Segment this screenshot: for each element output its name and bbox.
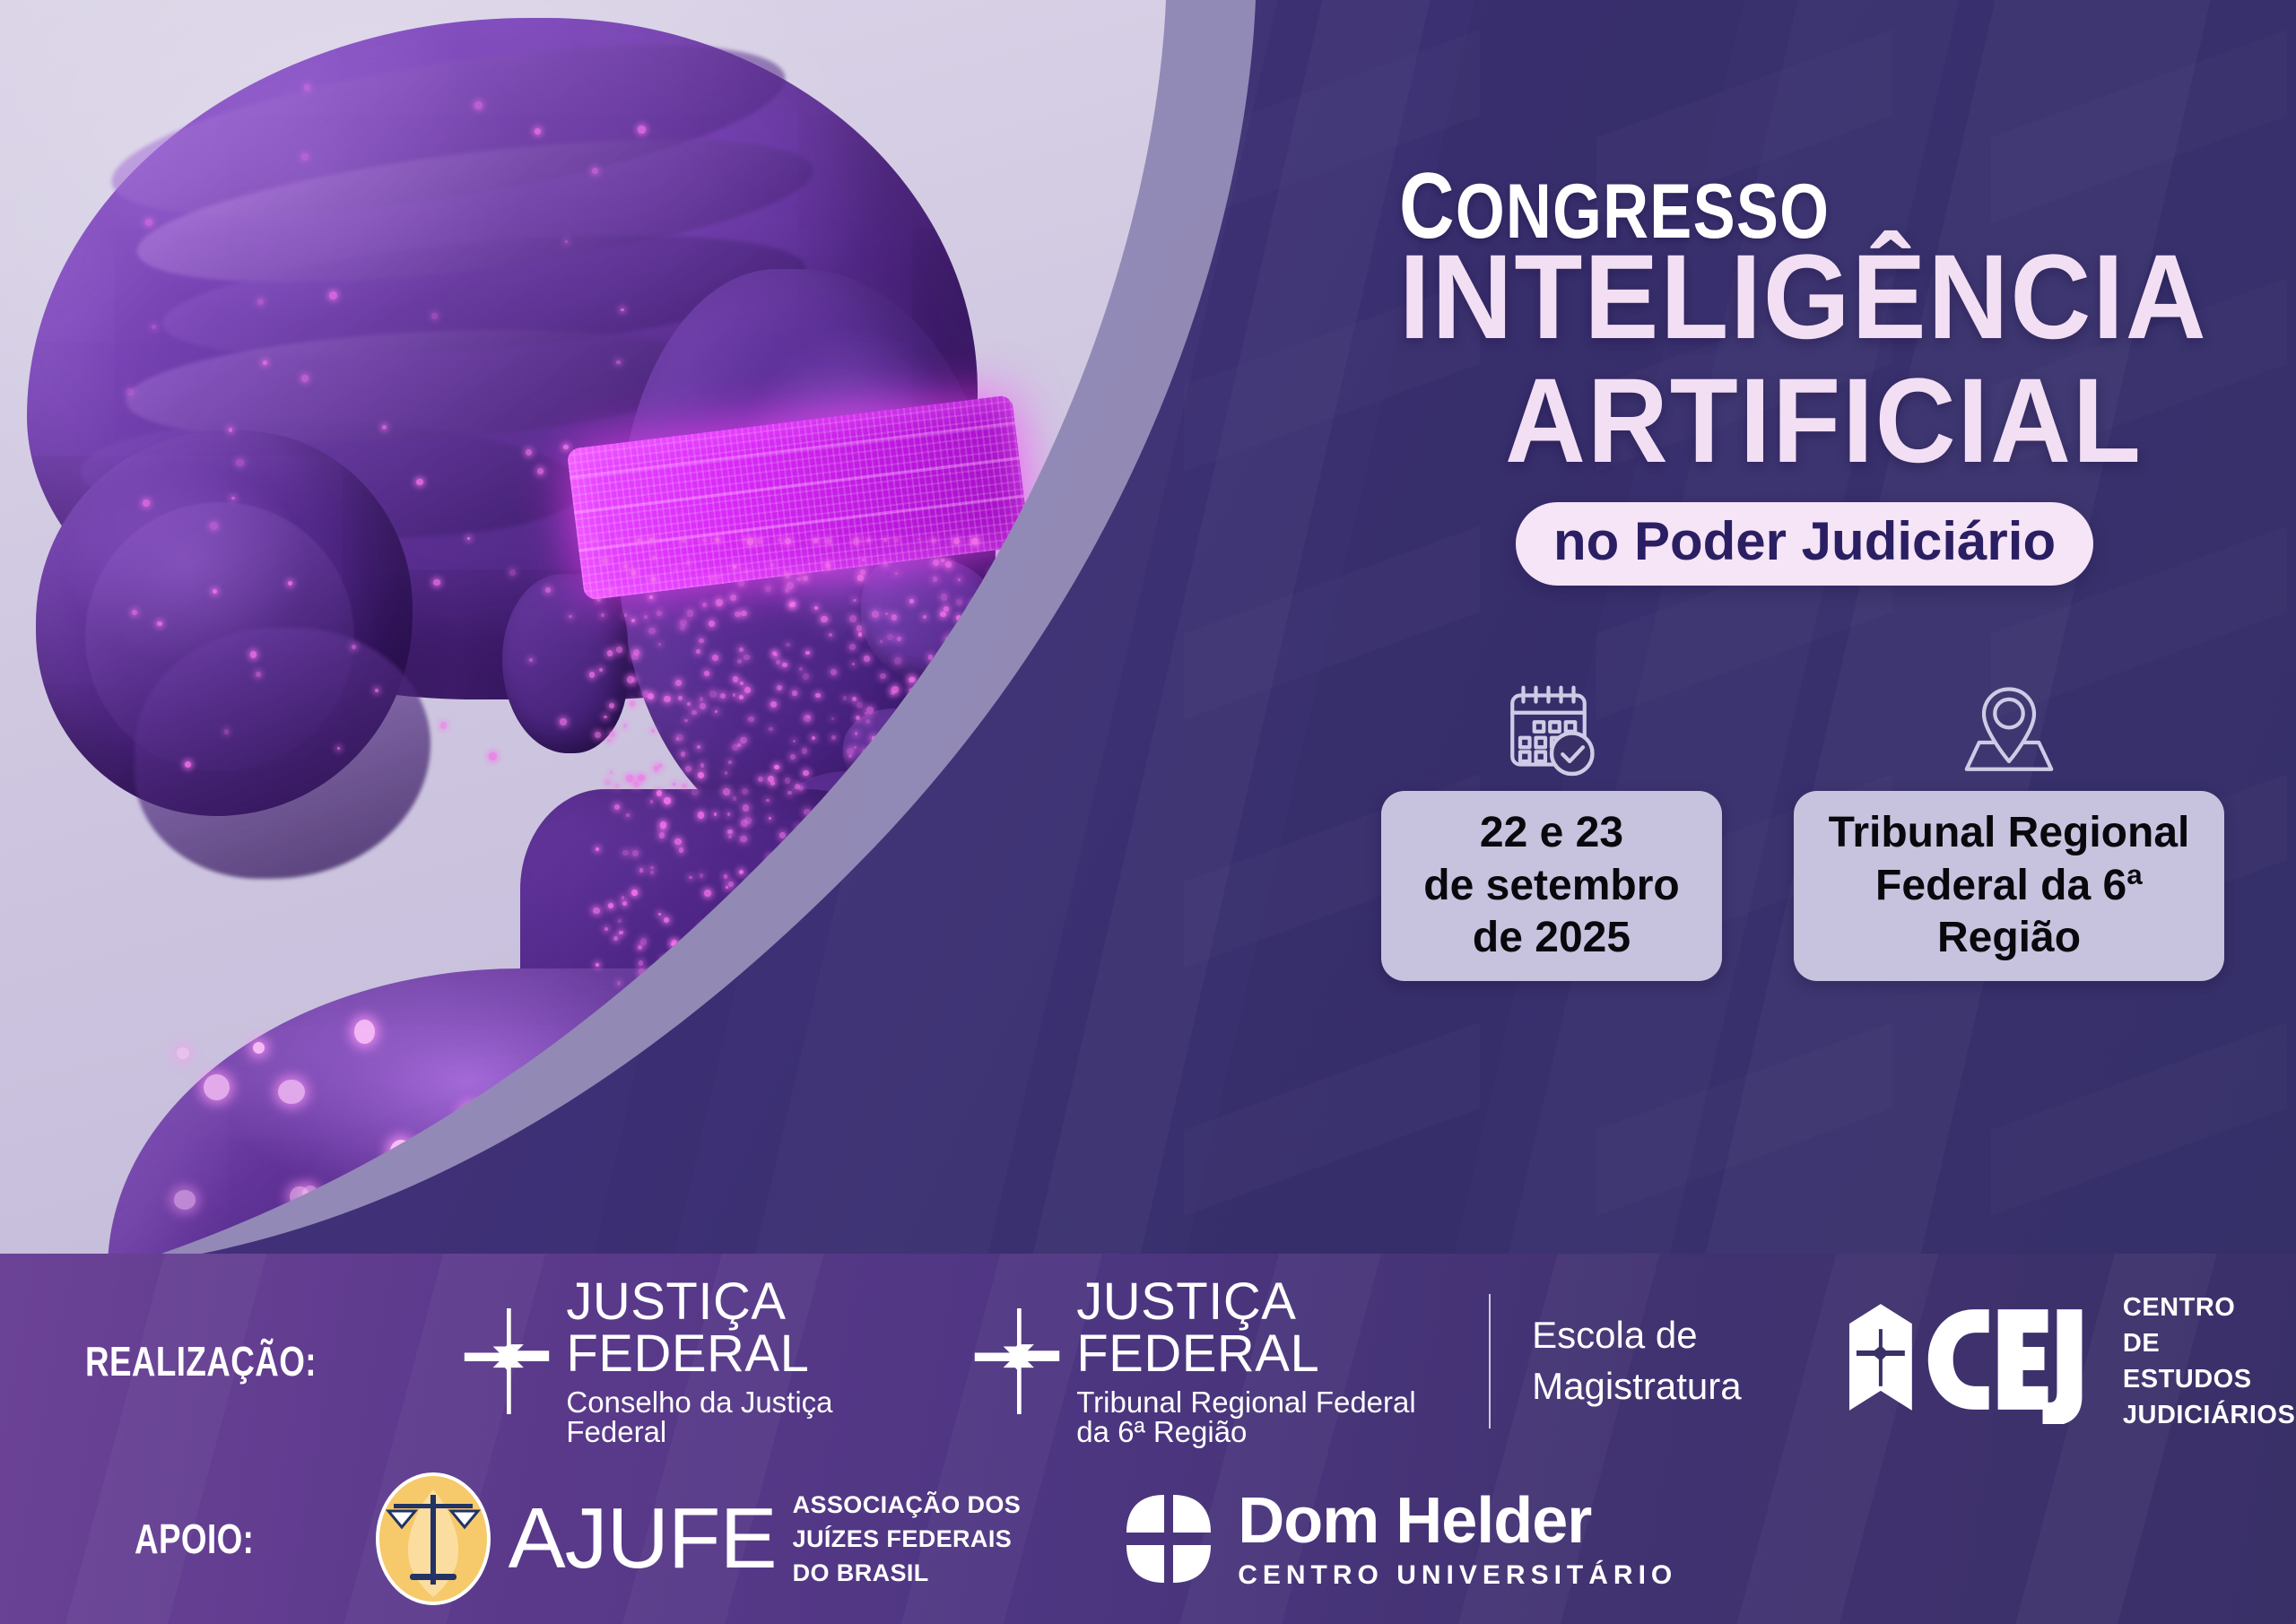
logo-dom-helder[interactable]: Dom Helder CENTRO UNIVERSITÁRIO bbox=[1119, 1489, 1677, 1589]
event-place-block: Tribunal Regional Federal da 6ª Região bbox=[1794, 682, 2224, 981]
justica-federal-cross-icon bbox=[464, 1308, 550, 1414]
logo-cej-sub: CENTRO DE ESTUDOS JUDICIÁRIOS bbox=[2123, 1290, 2296, 1433]
logo-escola-magistratura[interactable]: Escola de Magistratura bbox=[1532, 1310, 1741, 1411]
logo-cjf[interactable]: JUSTIÇA FEDERAL Conselho da Justiça Fede… bbox=[464, 1276, 904, 1446]
logo-trf6-sub: Tribunal Regional Federal da 6ª Região bbox=[1076, 1387, 1448, 1446]
logo-ajufe[interactable]: AJUFE ASSOCIAÇÃO DOS JUÍZES FEDERAIS DO … bbox=[370, 1472, 1022, 1606]
cej-logo-icon bbox=[1840, 1298, 2109, 1424]
logo-ajufe-sub: ASSOCIAÇÃO DOS JUÍZES FEDERAIS DO BRASIL bbox=[793, 1488, 1022, 1591]
event-info-row: 22 e 23 de setembro de 2025 Tribunal Reg… bbox=[1354, 682, 2251, 968]
logo-cjf-main: JUSTIÇA FEDERAL bbox=[566, 1276, 904, 1380]
realizacao-label: REALIZAÇÃO: bbox=[85, 1337, 317, 1385]
event-title-line2: ARTIFICIAL bbox=[1505, 366, 2143, 476]
logo-trf6-main: JUSTIÇA FEDERAL bbox=[1076, 1276, 1448, 1380]
calendar-check-icon bbox=[1381, 682, 1722, 780]
content-column: CONGRESSO INTELIGÊNCIA ARTIFICIAL no Pod… bbox=[1300, 0, 2296, 1254]
dom-helder-petals-icon bbox=[1119, 1489, 1218, 1588]
sponsors-footer: REALIZAÇÃO: JUSTIÇA FEDERAL Conselho da … bbox=[0, 1254, 2296, 1624]
poster-root: CONGRESSO INTELIGÊNCIA ARTIFICIAL no Pod… bbox=[0, 0, 2296, 1624]
ajufe-scales-icon bbox=[370, 1472, 496, 1606]
event-place-text: Tribunal Regional Federal da 6ª Região bbox=[1794, 791, 2224, 981]
logo-cjf-sub: Conselho da Justiça Federal bbox=[566, 1387, 904, 1446]
apoio-row: APOIO: AJUFE ASSOCIAÇÃO DOS JUÍZES FEDER… bbox=[0, 1458, 2296, 1620]
logo-ajufe-acronym: AJUFE bbox=[509, 1496, 777, 1582]
map-pin-icon bbox=[1794, 682, 2224, 780]
footer-divider bbox=[1489, 1294, 1491, 1429]
event-subtitle-pill: no Poder Judiciário bbox=[1516, 502, 2093, 586]
logo-trf6[interactable]: JUSTIÇA FEDERAL Tribunal Regional Federa… bbox=[974, 1276, 1448, 1446]
apoio-label: APOIO: bbox=[135, 1515, 254, 1563]
logo-cej[interactable]: CENTRO DE ESTUDOS JUDICIÁRIOS bbox=[1840, 1290, 2296, 1433]
logo-dom-helder-sub: CENTRO UNIVERSITÁRIO bbox=[1238, 1562, 1677, 1589]
event-date-block: 22 e 23 de setembro de 2025 bbox=[1381, 682, 1722, 981]
event-title-line1: INTELIGÊNCIA bbox=[1399, 242, 2208, 352]
event-date-text: 22 e 23 de setembro de 2025 bbox=[1381, 791, 1722, 981]
justica-federal-cross-icon bbox=[974, 1308, 1060, 1414]
realizacao-row: REALIZAÇÃO: JUSTIÇA FEDERAL Conselho da … bbox=[0, 1272, 2296, 1451]
logo-dom-helder-main: Dom Helder bbox=[1238, 1489, 1677, 1553]
